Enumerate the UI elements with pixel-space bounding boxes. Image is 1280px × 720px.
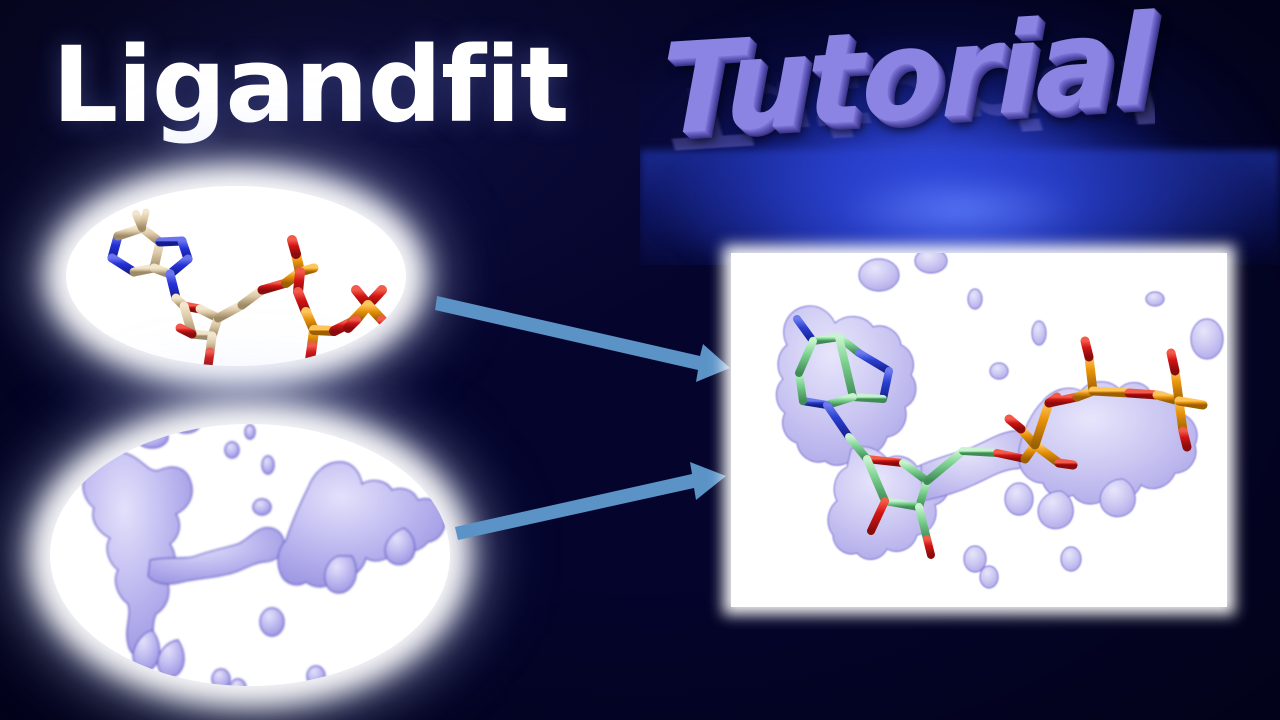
arrow-density-to-result xyxy=(455,462,726,540)
result-panel xyxy=(731,253,1227,607)
result-fitted-ligand xyxy=(731,253,1227,607)
slide-canvas: Tutorial Tutorial Ligandfit xyxy=(0,0,1280,720)
arrow-ligand-to-result xyxy=(435,296,730,382)
result-density-envelope xyxy=(776,253,1223,588)
